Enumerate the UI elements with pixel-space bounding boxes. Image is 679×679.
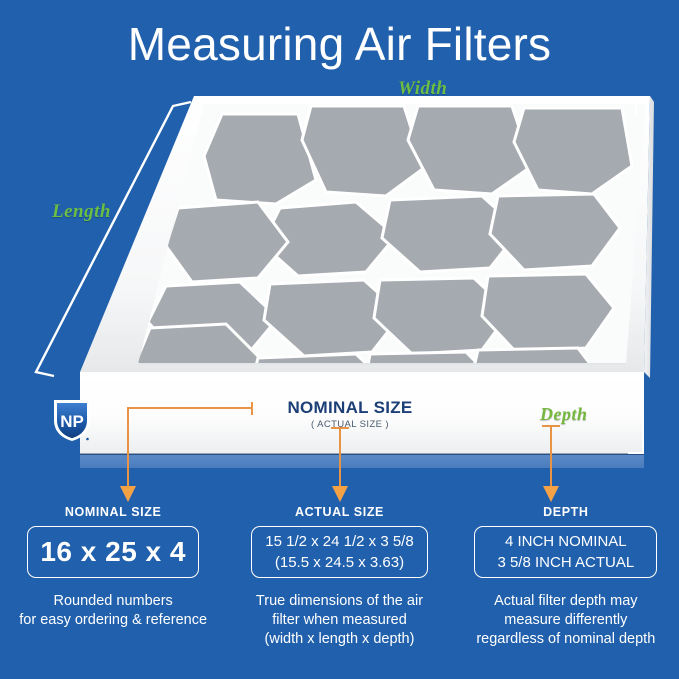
column-nominal-header: NOMINAL SIZE — [65, 505, 162, 519]
column-actual-caption: True dimensions of the air filter when m… — [232, 592, 447, 649]
column-actual-value-line-1: 15 1/2 x 24 1/2 x 3 5/8 — [265, 531, 413, 552]
width-label: Width — [398, 78, 447, 100]
column-actual-header: ACTUAL SIZE — [295, 505, 384, 519]
column-actual-value-line-2: (15.5 x 24.5 x 3.63) — [275, 552, 404, 573]
column-depth-value-line-2: 3 5/8 INCH ACTUAL — [497, 552, 634, 573]
column-nominal-caption: Rounded numbers for easy ordering & refe… — [6, 592, 221, 630]
length-label: Length — [52, 201, 111, 223]
column-depth-caption: Actual filter depth may measure differen… — [458, 592, 673, 649]
column-nominal-value-line-1: 16 x 25 x 4 — [40, 536, 186, 568]
column-nominal-box: 16 x 25 x 4 — [27, 526, 199, 578]
column-depth-header: DEPTH — [543, 505, 588, 519]
width-bracket — [200, 98, 637, 116]
infographic-canvas: Measuring Air Filters — [0, 0, 679, 679]
column-nominal: NOMINAL SIZE 16 x 25 x 4 Rounded numbers… — [0, 505, 226, 649]
page-title: Measuring Air Filters — [0, 18, 679, 70]
column-depth-box: 4 INCH NOMINAL 3 5/8 INCH ACTUAL — [474, 526, 657, 578]
column-depth-value-line-1: 4 INCH NOMINAL — [505, 531, 627, 552]
leader-lines — [0, 390, 679, 505]
column-actual: ACTUAL SIZE 15 1/2 x 24 1/2 x 3 5/8 (15.… — [226, 505, 452, 649]
length-bracket — [6, 96, 216, 396]
summary-columns: NOMINAL SIZE 16 x 25 x 4 Rounded numbers… — [0, 505, 679, 649]
column-actual-box: 15 1/2 x 24 1/2 x 3 5/8 (15.5 x 24.5 x 3… — [251, 526, 428, 578]
column-depth: DEPTH 4 INCH NOMINAL 3 5/8 INCH ACTUAL A… — [453, 505, 679, 649]
